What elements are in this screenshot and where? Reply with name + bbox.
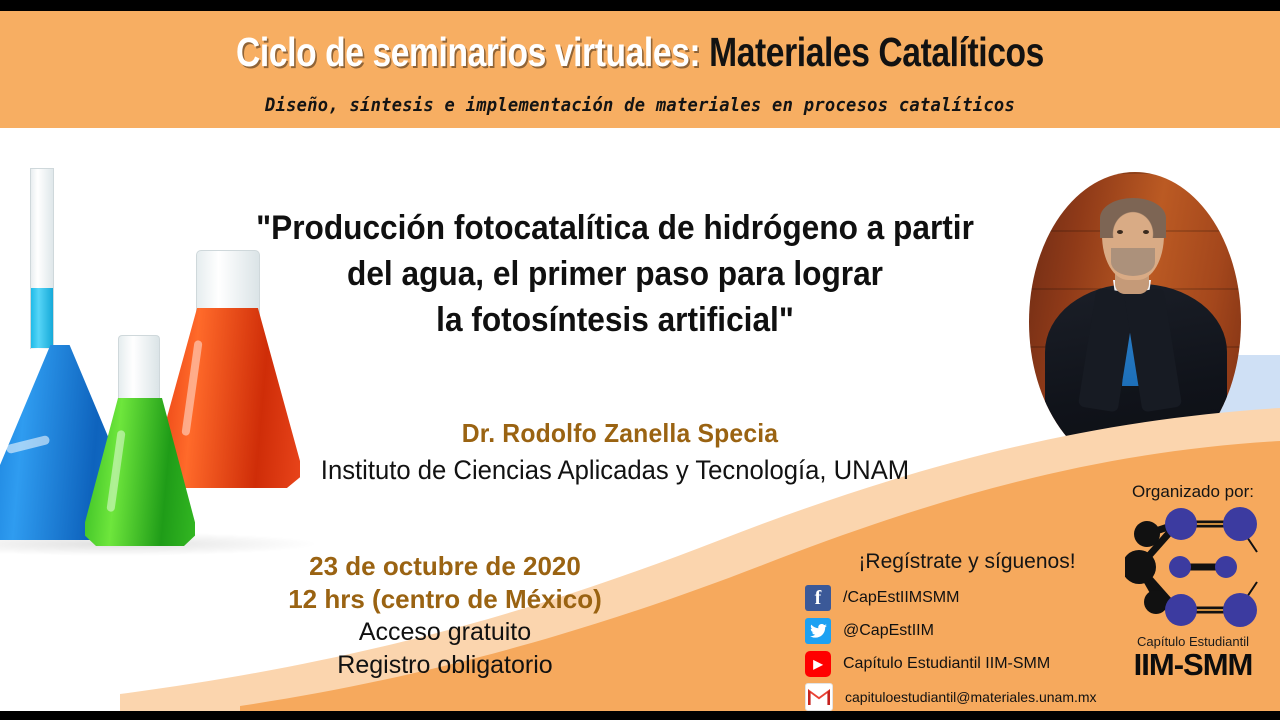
molecule-logo-icon [1125,506,1261,628]
photo-beard [1111,248,1155,276]
organizer-block: Organizado por: [1110,482,1276,681]
event-registration: Registro obligatorio [250,649,640,682]
social-block: ¡Regístrate y síguenos! f /CapEstIIMSMM … [805,550,1125,715]
social-heading: ¡Regístrate y síguenos! [805,550,1125,574]
event-time: 12 hrs (centro de México) [250,583,640,616]
facebook-handle[interactable]: /CapEstIIMSMM [843,589,959,607]
seminar-poster: Ciclo de seminarios virtuales: Materiale… [0,0,1280,720]
page-subtitle: Diseño, síntesis e implementación de mat… [64,94,1216,116]
talk-title: "Producción fotocatalítica de hidrógeno … [229,205,1001,343]
speaker-name: Dr. Rodolfo Zanella Specia [250,418,991,449]
list-item[interactable]: capituloestudiantil@materiales.unam.mx [805,682,1125,712]
page-title-highlight: Materiales Catalíticos [700,29,1044,75]
blue-flask-neck-liquid [31,288,53,348]
photo-eye-left [1117,230,1123,234]
list-item[interactable]: @CapEstIIM [805,616,1125,646]
event-access: Acceso gratuito [250,616,640,649]
event-details: 23 de octubre de 2020 12 hrs (centro de … [250,550,640,682]
email-address[interactable]: capituloestudiantil@materiales.unam.mx [845,689,1097,705]
facebook-icon: f [805,585,831,611]
event-date: 23 de octubre de 2020 [250,550,640,583]
page-title-prefix: Ciclo de seminarios virtuales: [236,29,700,75]
speaker-photo [1029,172,1241,472]
top-black-bar [0,0,1280,11]
talk-title-line-3: la fotosíntesis artificial" [229,297,1001,343]
bottom-black-bar [0,711,1280,720]
page-title: Ciclo de seminarios virtuales: Materiale… [115,29,1165,76]
youtube-icon: ▶ [805,651,831,677]
green-flask-neck [118,335,160,406]
talk-title-line-2: del agua, el primer paso para lograr [229,251,1001,297]
talk-title-line-1: "Producción fotocatalítica de hidrógeno … [229,205,1001,251]
photo-hands [1107,430,1167,458]
organizer-name: IIM-SMM [1110,649,1276,681]
organizer-heading: Organizado por: [1110,482,1276,502]
photo-eye-right [1143,230,1149,234]
list-item[interactable]: ▶ Capítulo Estudiantil IIM-SMM [805,649,1125,679]
gmail-icon [805,683,833,711]
list-item[interactable]: f /CapEstIIMSMM [805,583,1125,613]
speaker-affiliation: Instituto de Ciencias Aplicadas y Tecnol… [221,455,1010,486]
poster-header: Ciclo de seminarios virtuales: Materiale… [0,11,1280,128]
twitter-icon [805,618,831,644]
youtube-channel[interactable]: Capítulo Estudiantil IIM-SMM [843,655,1050,673]
photo-hair [1100,198,1166,238]
twitter-handle[interactable]: @CapEstIIM [843,622,934,640]
